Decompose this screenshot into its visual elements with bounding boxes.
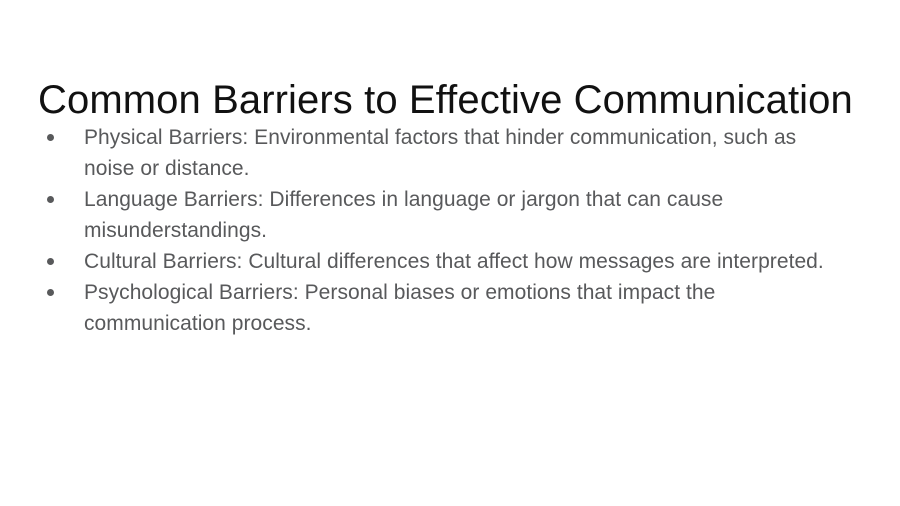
list-item: Psychological Barriers: Personal biases … [38,277,858,339]
bullet-dot-icon [47,196,54,203]
bullet-dot-icon [47,289,54,296]
list-item: Physical Barriers: Environmental factors… [38,122,858,184]
bullet-list: Physical Barriers: Environmental factors… [38,122,858,339]
list-item-text: Physical Barriers: Environmental factors… [84,122,850,184]
bullet-dot-icon [47,258,54,265]
presentation-slide: Common Barriers to Effective Communicati… [0,0,900,506]
list-item-text: Cultural Barriers: Cultural differences … [84,246,850,277]
list-item-text: Psychological Barriers: Personal biases … [84,277,850,339]
list-item-text: Language Barriers: Differences in langua… [84,184,850,246]
list-item: Language Barriers: Differences in langua… [38,184,858,246]
page-title: Common Barriers to Effective Communicati… [38,77,858,123]
bullet-dot-icon [47,134,54,141]
list-item: Cultural Barriers: Cultural differences … [38,246,858,277]
